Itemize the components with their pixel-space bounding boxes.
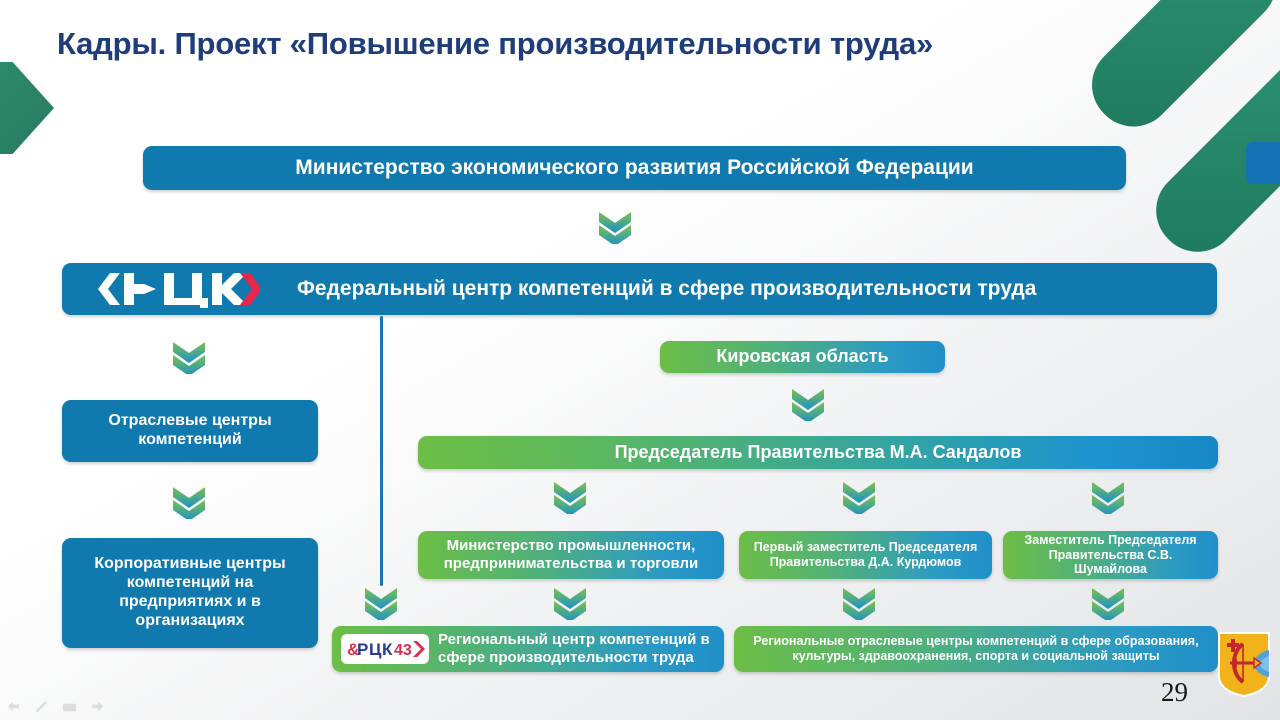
node-branch-centers: Отраслевые центры компетенций <box>62 400 318 462</box>
chevron-down-icon-6 <box>840 480 878 514</box>
node-first-deputy: Первый заместитель Председателя Правител… <box>739 531 992 579</box>
node-deputy: Заместитель Председателя Правительства С… <box>1003 531 1218 579</box>
rck43-logo: & Р Ц К 43 <box>341 634 429 664</box>
svg-text:К: К <box>382 640 393 659</box>
chevron-down-icon-7 <box>1089 480 1127 514</box>
node-kirov-region: Кировская область <box>660 341 945 373</box>
kirov-coat-of-arms <box>1216 630 1272 698</box>
chevron-down-icon-8 <box>362 586 400 620</box>
node-ministry-federal: Министерство экономического развития Рос… <box>143 146 1126 190</box>
presentation-toolbar[interactable] <box>6 699 105 714</box>
svg-text:Ц: Ц <box>369 640 382 659</box>
node-corporate-centers: Корпоративные центры компетенций на пред… <box>62 538 318 648</box>
fck-logo <box>88 271 260 307</box>
chevron-down-icon-11 <box>1089 586 1127 620</box>
connector-line-vertical <box>380 316 383 586</box>
node-regional-branch-centers: Региональные отраслевые центры компетенц… <box>734 626 1218 672</box>
slide-canvas: Кадры. Проект «Повышение производительно… <box>0 0 1280 720</box>
forward-arrow-icon[interactable] <box>90 699 105 714</box>
node-minprom: Министерство промышленности, предпринима… <box>418 531 724 579</box>
decorative-green-arrow-left <box>0 62 54 154</box>
chevron-down-icon-1 <box>596 210 634 244</box>
keyboard-icon[interactable] <box>62 699 77 714</box>
svg-text:Р: Р <box>357 640 368 659</box>
slide-title: Кадры. Проект «Повышение производительно… <box>57 26 933 62</box>
back-arrow-icon[interactable] <box>6 699 21 714</box>
chevron-down-icon-4 <box>789 387 827 421</box>
chevron-down-icon-2 <box>170 340 208 374</box>
svg-text:43: 43 <box>394 642 412 659</box>
chevron-down-icon-3 <box>170 485 208 519</box>
decorative-blue-square <box>1246 142 1280 184</box>
pen-icon[interactable] <box>34 699 49 714</box>
node-chairman: Председатель Правительства М.А. Сандалов <box>418 436 1218 469</box>
chevron-down-icon-10 <box>840 586 878 620</box>
chevron-down-icon-9 <box>551 586 589 620</box>
page-number: 29 <box>1161 677 1188 708</box>
chevron-down-icon-5 <box>551 480 589 514</box>
